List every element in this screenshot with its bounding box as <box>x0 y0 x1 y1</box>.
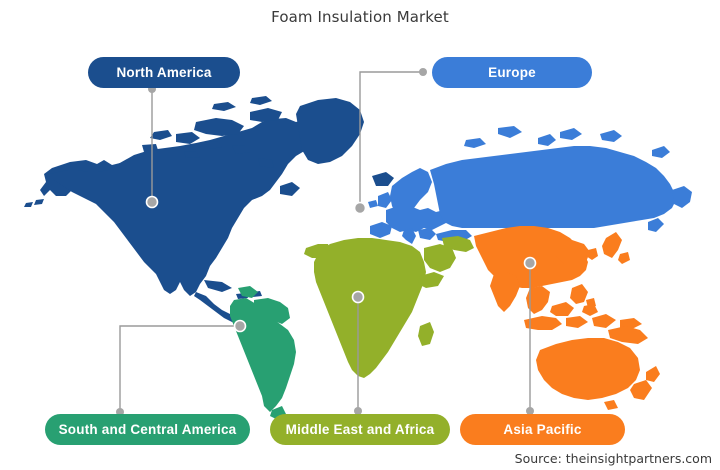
source-attribution: Source: theinsightpartners.com <box>515 451 712 466</box>
region-label-asia-pacific[interactable]: Asia Pacific <box>460 414 625 445</box>
connector-south-central-america <box>120 326 240 412</box>
region-label-middle-east-africa[interactable]: Middle East and Africa <box>270 414 450 445</box>
region-south-central-america[interactable] <box>230 286 296 420</box>
region-label-south-central-america[interactable]: South and Central America <box>45 414 250 445</box>
marker-europe-anchor <box>419 68 427 76</box>
marker-south-central-america <box>235 321 246 332</box>
region-label-north-america[interactable]: North America <box>88 57 240 88</box>
marker-north-america <box>147 197 158 208</box>
marker-europe <box>355 203 366 214</box>
marker-middle-east-africa <box>353 292 364 303</box>
region-label-europe[interactable]: Europe <box>432 57 592 88</box>
region-asia-pacific[interactable] <box>474 226 660 410</box>
map-infographic: Foam Insulation Market <box>0 0 720 470</box>
region-middle-east-africa[interactable] <box>304 236 474 378</box>
marker-asia-pacific <box>525 258 536 269</box>
